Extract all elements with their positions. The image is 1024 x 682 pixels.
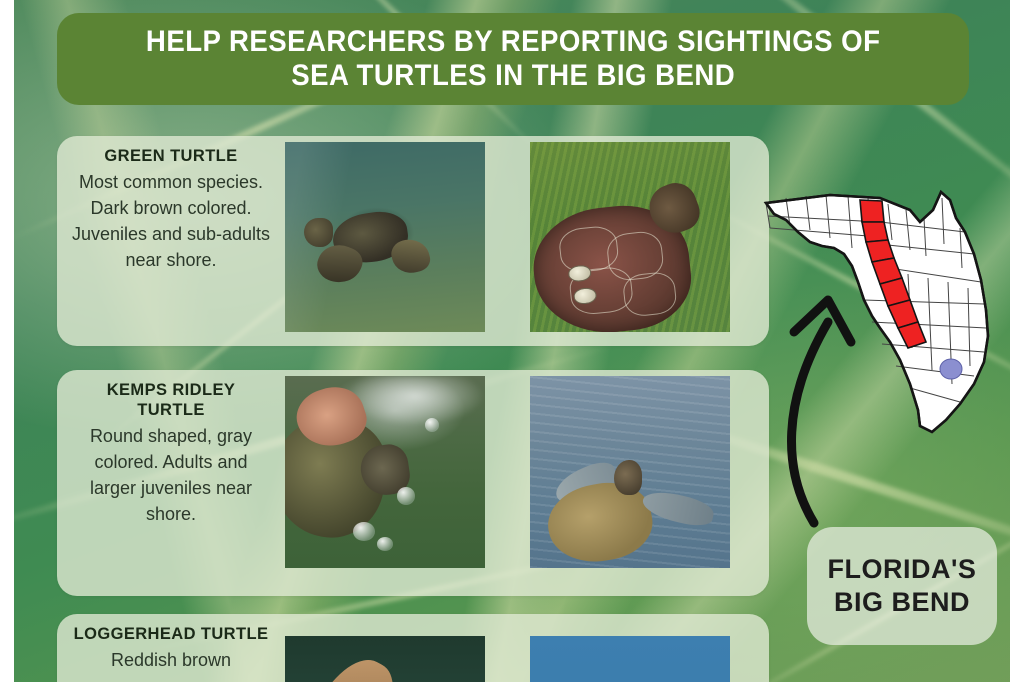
loggerhead-blue-water-photo: [530, 636, 730, 682]
curved-arrow-to-big-bend: [766, 280, 896, 525]
kemps-ridley-surfacing-photo: [530, 376, 730, 568]
kemps-ridley-release-photo: [285, 376, 485, 568]
loggerhead-title: LOGGERHEAD TURTLE: [71, 624, 271, 644]
title-line-2: SEA TURTLES IN THE BIG BEND: [291, 59, 735, 93]
kemps-ridley-title: KEMPS RIDLEY TURTLE: [71, 380, 271, 420]
green-turtle-description: Most common species. Dark brown colored.…: [71, 169, 271, 273]
kemps-ridley-description: Round shaped, gray colored. Adults and l…: [71, 423, 271, 527]
badge-line-2: BIG BEND: [834, 586, 970, 619]
florida-big-bend-badge: FLORIDA'S BIG BEND: [807, 527, 997, 645]
species-card-green-turtle: GREEN TURTLE Most common species. Dark b…: [57, 136, 769, 346]
loggerhead-text-block: LOGGERHEAD TURTLE Reddish brown: [71, 624, 271, 673]
poster-canvas: HELP RESEARCHERS BY REPORTING SIGHTINGS …: [14, 0, 1010, 682]
green-turtle-tagged-seagrass-photo: [530, 142, 730, 332]
green-turtle-swimming-photo: [285, 142, 485, 332]
title-line-1: HELP RESEARCHERS BY REPORTING SIGHTINGS …: [146, 25, 880, 59]
kemps-ridley-text-block: KEMPS RIDLEY TURTLE Round shaped, gray c…: [71, 380, 271, 527]
green-turtle-title: GREEN TURTLE: [71, 146, 271, 166]
badge-line-1: FLORIDA'S: [828, 553, 977, 586]
green-turtle-text-block: GREEN TURTLE Most common species. Dark b…: [71, 146, 271, 273]
loggerhead-green-water-photo: [285, 636, 485, 682]
species-card-loggerhead-turtle: LOGGERHEAD TURTLE Reddish brown: [57, 614, 769, 682]
species-card-kemps-ridley-turtle: KEMPS RIDLEY TURTLE Round shaped, gray c…: [57, 370, 769, 596]
loggerhead-description: Reddish brown: [71, 647, 271, 673]
title-banner: HELP RESEARCHERS BY REPORTING SIGHTINGS …: [57, 13, 969, 105]
lake-okeechobee: [940, 359, 962, 379]
